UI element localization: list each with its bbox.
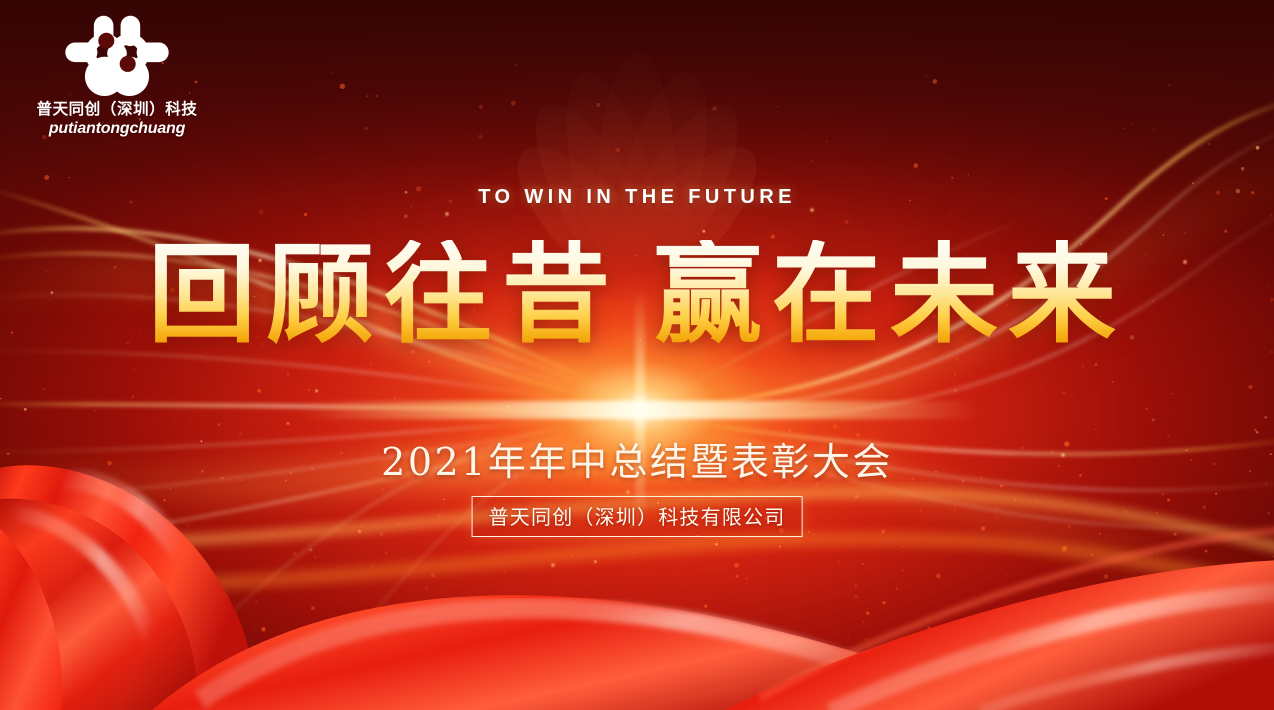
english-tagline: TO WIN IN THE FUTURE: [0, 186, 1274, 209]
main-title-part2: 赢在未来: [654, 232, 1126, 358]
company-name-box: 普天同创（深圳）科技有限公司: [472, 496, 803, 537]
silk-right-sweep: [720, 560, 1274, 710]
putiantongchuang-molecular-logo-icon: [62, 14, 172, 96]
company-name-text: 普天同创（深圳）科技有限公司: [489, 501, 786, 530]
company-logo[interactable]: 普天同创（深圳）科技 putiantongchuang: [22, 14, 212, 139]
event-subtitle: 2021年年中总结暨表彰大会: [0, 441, 1274, 485]
poster-canvas: 普天同创（深圳）科技 putiantongchuang TO WIN IN TH…: [0, 0, 1274, 710]
main-title-part1: 回顾往昔: [148, 232, 620, 358]
logo-english-name: putiantongchuang: [22, 119, 212, 139]
logo-chinese-name: 普天同创（深圳）科技: [22, 100, 212, 119]
main-title: 回顾往昔赢在未来: [0, 240, 1274, 350]
